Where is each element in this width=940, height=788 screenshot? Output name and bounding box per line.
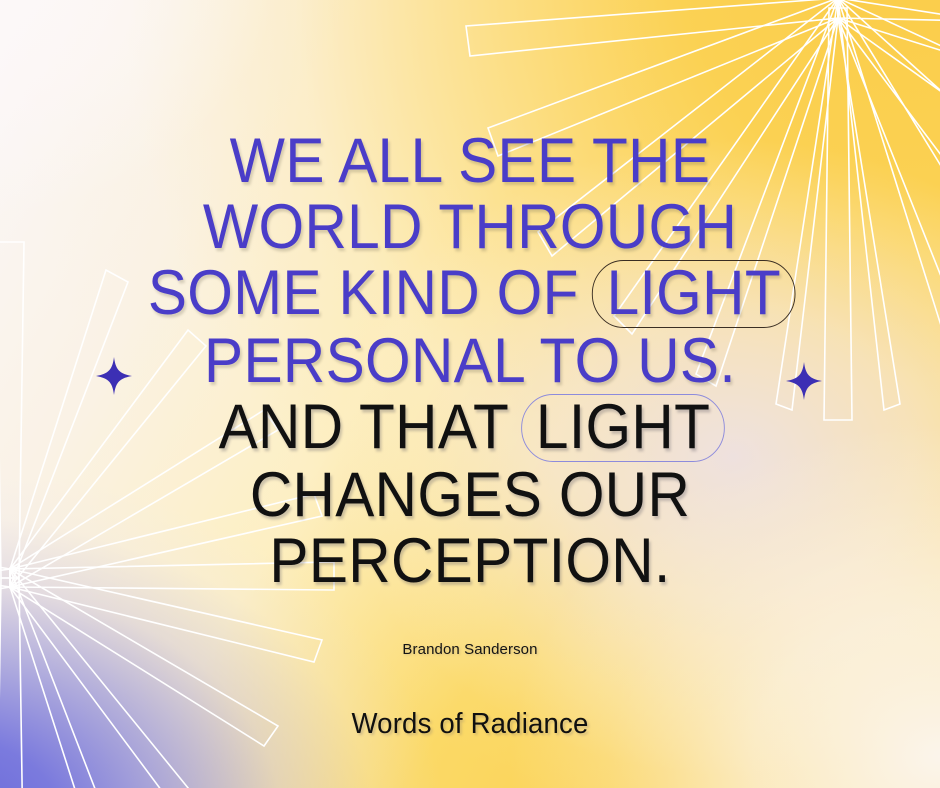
quote-segment: PERCEPTION.	[269, 526, 670, 596]
quote-segment: WE ALL SEE THE	[230, 126, 711, 196]
quote-line-2: WORLD THROUGH	[33, 194, 907, 260]
quote-segment: WORLD THROUGH	[203, 192, 737, 262]
quote-poster: WE ALL SEE THE WORLD THROUGH SOME KIND O…	[0, 0, 940, 788]
highlight-word-light-black: LIGHT	[521, 394, 725, 462]
highlight-word-light-blue: LIGHT	[592, 260, 796, 328]
quote-line-3: SOME KIND OF LIGHT	[33, 260, 907, 328]
quote-line-7: PERCEPTION.	[33, 528, 907, 594]
quote-line-1: WE ALL SEE THE	[33, 128, 907, 194]
quote-line-4: PERSONAL TO US.	[33, 328, 907, 394]
quote-segment: SOME KIND OF	[148, 258, 579, 328]
quote-segment: PERSONAL TO US.	[204, 326, 736, 396]
quote-text: WE ALL SEE THE WORLD THROUGH SOME KIND O…	[33, 128, 907, 594]
quote-segment: CHANGES OUR	[250, 460, 690, 530]
quote-segment: AND THAT	[219, 392, 508, 462]
quote-author: Brandon Sanderson	[0, 641, 940, 658]
quote-line-6: CHANGES OUR	[33, 462, 907, 528]
quote-line-5: AND THAT LIGHT	[33, 394, 907, 462]
quote-source-title: Words of Radiance	[24, 708, 917, 741]
